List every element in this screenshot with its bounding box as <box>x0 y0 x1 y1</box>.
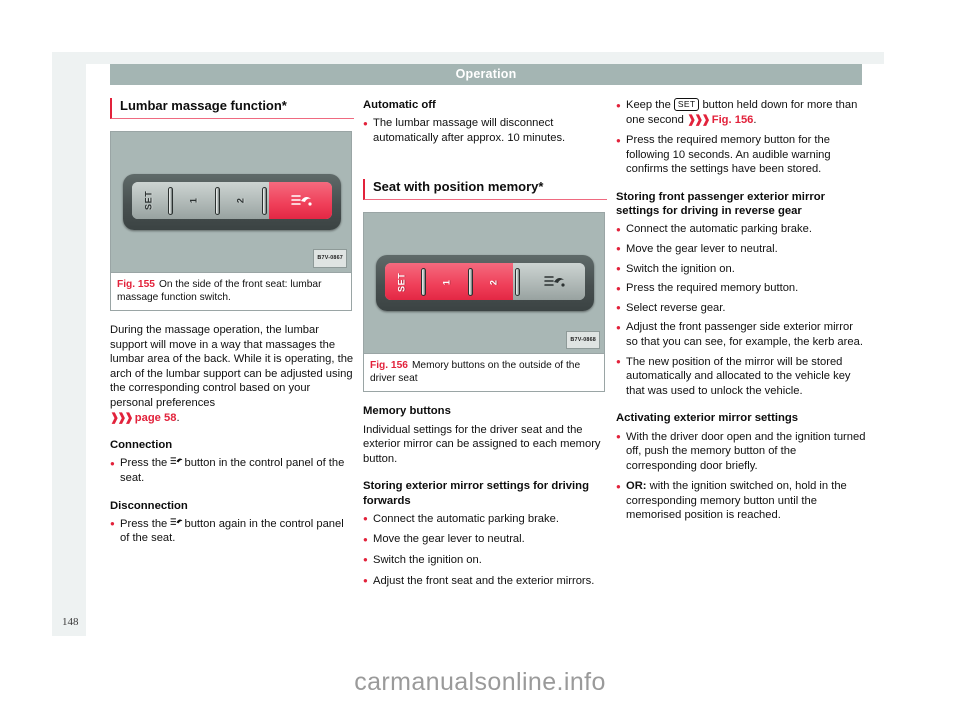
list-item: Switch the ignition on. <box>616 262 866 277</box>
connection-bullet: Press the button in the control panel of… <box>110 456 354 485</box>
lumbar-massage-paragraph-text: During the massage operation, the lumbar… <box>110 324 353 409</box>
list-item: Connect the automatic parking brake. <box>363 512 607 527</box>
list-item: The new position of the mirror will be s… <box>616 355 866 399</box>
button-massage <box>522 263 585 300</box>
list-item: Select reverse gear. <box>616 301 866 316</box>
column-middle: Automatic off The lumbar massage will di… <box>363 98 607 594</box>
watermark: carmanualsonline.info <box>0 668 960 697</box>
rocker-1 <box>166 182 175 219</box>
list-item: Adjust the front seat and the exterior m… <box>363 574 607 589</box>
rocker-bar <box>421 268 426 296</box>
disconnection-bullets: Press the button again in the control pa… <box>110 517 354 546</box>
set-button-bullet: Keep the SET button held down for more t… <box>616 98 866 127</box>
button-set-label: SET <box>395 272 410 291</box>
list-item: Connect the automatic parking brake. <box>616 222 866 237</box>
or-label: OR: <box>626 480 647 492</box>
figure-156-number: Fig. 156 <box>370 360 408 371</box>
seat-switch-panel-inner: SET 1 2 <box>132 182 332 219</box>
automatic-off-bullets: The lumbar massage will disconnect autom… <box>363 116 607 145</box>
figure-155-caption: Fig. 155On the side of the front seat: l… <box>111 272 351 310</box>
connection-bullets: Press the button in the control panel of… <box>110 456 354 485</box>
rocker-3 <box>513 263 522 300</box>
column-right: Keep the SET button held down for more t… <box>616 98 866 529</box>
memory-buttons-heading: Memory buttons <box>363 404 607 418</box>
figure-156: SET 1 2 <box>363 212 605 392</box>
rocker-bar <box>168 187 173 215</box>
button-memory-1: 1 <box>175 182 213 219</box>
massage-icon <box>170 517 181 528</box>
storing-reverse-heading: Storing front passenger exterior mirror … <box>616 190 866 218</box>
connection-bullet-pre: Press the <box>120 457 167 469</box>
storing-forwards-bullets: Connect the automatic parking brake. Mov… <box>363 512 607 588</box>
rocker-bar <box>215 187 220 215</box>
storing-forwards-heading: Storing exterior mirror settings for dri… <box>363 479 607 507</box>
figure-155-image: SET 1 2 <box>111 132 351 272</box>
disconnection-bullet-pre: Press the <box>120 518 167 530</box>
massage-icon <box>170 456 181 467</box>
lumbar-massage-paragraph: During the massage operation, the lumbar… <box>110 323 354 425</box>
disconnection-heading: Disconnection <box>110 499 354 513</box>
button-set: SET <box>132 182 166 219</box>
massage-icon <box>288 193 314 209</box>
rocker-2 <box>213 182 222 219</box>
column-left: Lumbar massage function* SET 1 2 <box>110 98 354 552</box>
press-memory-bullet: Press the required memory button for the… <box>616 133 866 177</box>
button-memory-2: 2 <box>222 182 260 219</box>
period: . <box>176 412 179 424</box>
rocker-bar <box>515 268 520 296</box>
page-number: 148 <box>62 616 79 628</box>
figure-156-reference: ❱❱❱ Fig. 156 <box>687 114 753 126</box>
or-text: with the ignition switched on, hold in t… <box>626 480 847 521</box>
rocker-2 <box>466 263 475 300</box>
section-title-lumbar-massage: Lumbar massage function* <box>110 98 354 119</box>
button-memory-2-label: 2 <box>487 279 502 285</box>
figure-156-image: SET 1 2 <box>364 213 604 353</box>
automatic-off-heading: Automatic off <box>363 98 607 112</box>
button-memory-1-highlighted: 1 <box>428 263 466 300</box>
button-memory-1-label: 1 <box>187 198 202 204</box>
button-memory-2-label: 2 <box>234 198 249 204</box>
massage-icon <box>541 274 567 290</box>
set-bullet-pre: Keep the <box>626 99 671 111</box>
activating-mirror-bullets: With the driver door open and the igniti… <box>616 430 866 524</box>
figure-155-code: B7V-0867 <box>313 249 347 268</box>
set-button-bullets: Keep the SET button held down for more t… <box>616 98 866 177</box>
button-memory-2-highlighted: 2 <box>475 263 513 300</box>
figure-156-caption: Fig. 156Memory buttons on the outside of… <box>364 353 604 391</box>
figure-155-number: Fig. 155 <box>117 279 155 290</box>
rocker-bar <box>262 187 267 215</box>
figure-156-code: B7V-0868 <box>566 331 600 350</box>
list-item: Move the gear lever to neutral. <box>616 242 866 257</box>
set-key-icon: SET <box>674 98 699 111</box>
page-58-reference-text[interactable]: page 58 <box>135 412 177 424</box>
storing-reverse-bullets: Connect the automatic parking brake. Mov… <box>616 222 866 398</box>
connection-heading: Connection <box>110 438 354 452</box>
activating-mirror-heading: Activating exterior mirror settings <box>616 411 866 425</box>
figure-156-reference-text[interactable]: Fig. 156 <box>712 114 754 126</box>
disconnection-bullet: Press the button again in the control pa… <box>110 517 354 546</box>
rocker-3 <box>260 182 269 219</box>
rocker-1 <box>419 263 428 300</box>
memory-switch-panel: SET 1 2 <box>376 255 594 311</box>
section-title-seat-memory: Seat with position memory* <box>363 179 607 200</box>
list-item: Press the required memory button. <box>616 281 866 296</box>
list-item-or: OR: with the ignition switched on, hold … <box>616 479 866 523</box>
seat-switch-panel: SET 1 2 <box>123 174 341 230</box>
list-item: Move the gear lever to neutral. <box>363 532 607 547</box>
list-item: Adjust the front passenger side exterior… <box>616 320 866 349</box>
rocker-bar <box>468 268 473 296</box>
page-58-reference: ❱❱❱ page 58 <box>110 412 176 424</box>
list-item: With the driver door open and the igniti… <box>616 430 866 474</box>
list-item: Switch the ignition on. <box>363 553 607 568</box>
automatic-off-bullet: The lumbar massage will disconnect autom… <box>363 116 607 145</box>
memory-switch-panel-inner: SET 1 2 <box>385 263 585 300</box>
button-set-label: SET <box>142 191 157 210</box>
button-memory-1-label: 1 <box>440 279 455 285</box>
period: . <box>753 114 756 126</box>
button-set-highlighted: SET <box>385 263 419 300</box>
memory-buttons-paragraph: Individual settings for the driver seat … <box>363 423 607 467</box>
running-header-bar: Operation <box>110 64 862 85</box>
button-massage-highlighted <box>269 182 332 219</box>
figure-155: SET 1 2 <box>110 131 352 311</box>
running-header-title: Operation <box>110 64 862 85</box>
